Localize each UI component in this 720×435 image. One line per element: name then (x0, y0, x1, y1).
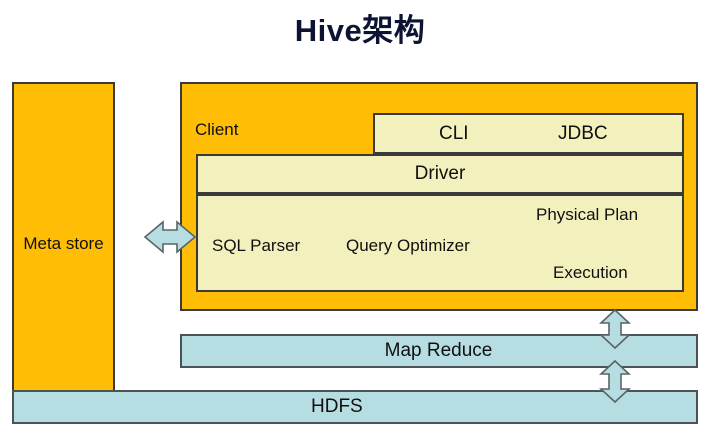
driver-components-panel[interactable]: SQL Parser Query Optimizer Physical Plan… (196, 194, 684, 292)
cli-label: CLI (439, 123, 469, 145)
driver-label: Driver (198, 163, 682, 185)
physical-plan-label: Physical Plan (536, 205, 638, 225)
client-interfaces-bar[interactable]: CLI JDBC (373, 113, 684, 154)
page-title: Hive架构 (0, 10, 720, 52)
jdbc-label: JDBC (558, 123, 608, 145)
mapreduce-label: Map Reduce (182, 340, 696, 362)
mapreduce-bar[interactable]: Map Reduce (180, 334, 698, 368)
client-label: Client (195, 120, 238, 140)
metastore-label: Meta store (14, 234, 113, 254)
hdfs-bar[interactable]: HDFS (12, 390, 698, 424)
query-optimizer-label: Query Optimizer (346, 236, 470, 256)
driver-bar[interactable]: Driver (196, 154, 684, 194)
metastore-box[interactable]: Meta store (12, 82, 115, 405)
sql-parser-label: SQL Parser (212, 236, 300, 256)
execution-label: Execution (553, 263, 628, 283)
diagram-canvas: Hive架构 Meta store Client CLI JDBC Driver… (0, 0, 720, 435)
hdfs-label: HDFS (14, 396, 696, 418)
